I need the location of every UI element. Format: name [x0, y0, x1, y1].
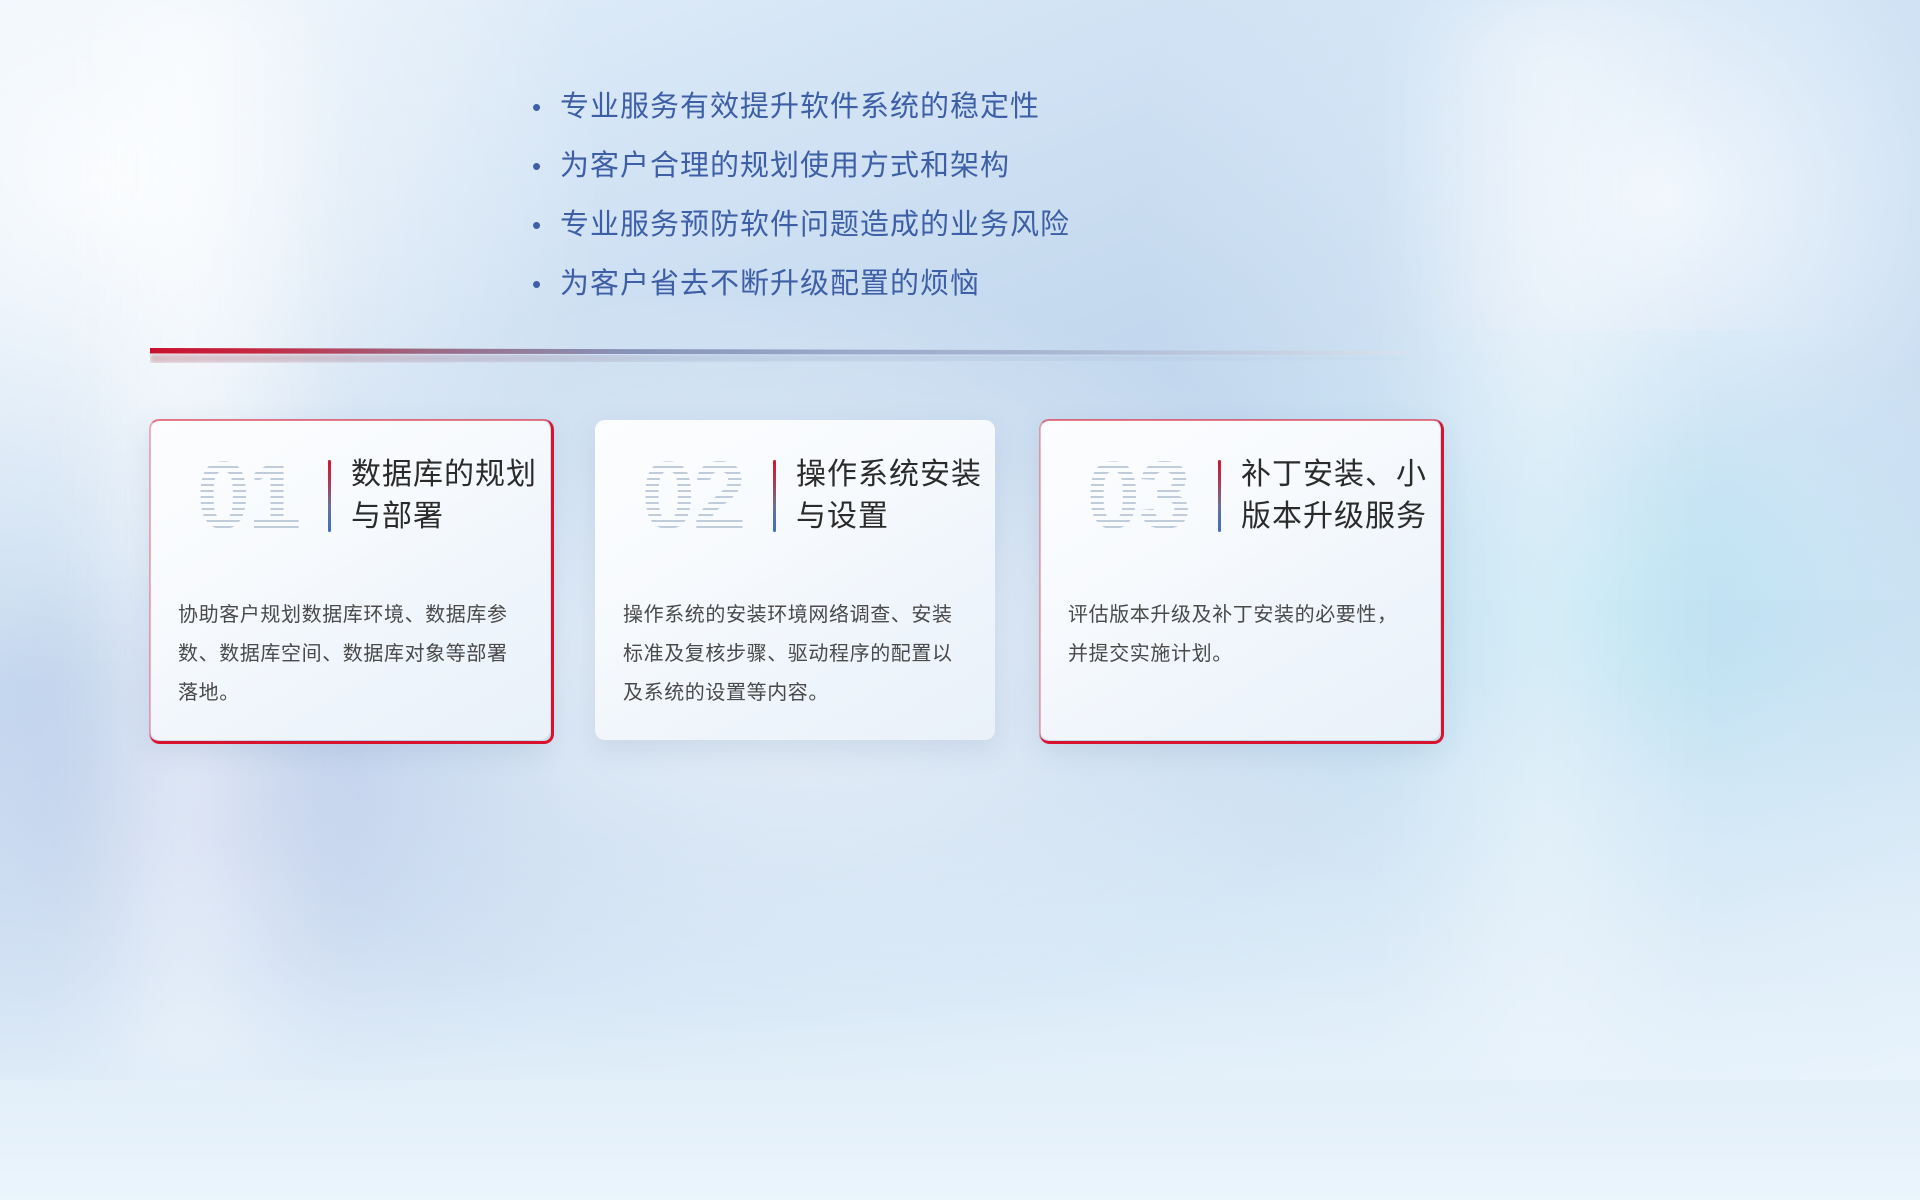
background-bottom-fade	[0, 680, 1920, 1200]
benefits-bullet-list: • 专业服务有效提升软件系统的稳定性 • 为客户合理的规划使用方式和架构 • 专…	[532, 88, 1432, 325]
service-card-01[interactable]: 01 数据库的规划 与部署 协助客户规划数据库环境、数据库参数、数据库空间、数据…	[150, 420, 550, 740]
bullet-text: 专业服务有效提升软件系统的稳定性	[560, 88, 1040, 127]
divider-shadow	[150, 354, 1406, 363]
bullet-dot-icon: •	[532, 212, 560, 238]
bullet-dot-icon: •	[532, 94, 560, 120]
service-card-row: 01 数据库的规划 与部署 协助客户规划数据库环境、数据库参数、数据库空间、数据…	[150, 420, 1440, 740]
service-card-03[interactable]: 03 补丁安装、小 版本升级服务 评估版本升级及补丁安装的必要性，并提交实施计划…	[1040, 420, 1440, 740]
card-accent-divider	[1218, 460, 1221, 532]
card-accent-divider	[328, 460, 331, 532]
card-number-03: 03	[1062, 448, 1214, 544]
divider-gradient-bar	[150, 348, 1406, 355]
card-number-02: 02	[617, 448, 769, 544]
card-title: 操作系统安装 与设置	[796, 454, 982, 538]
list-item: • 为客户合理的规划使用方式和架构	[532, 147, 1432, 186]
card-header: 03 补丁安装、小 版本升级服务	[1040, 420, 1440, 572]
bullet-text: 为客户合理的规划使用方式和架构	[560, 147, 1010, 186]
card-accent-divider	[773, 460, 776, 532]
list-item: • 专业服务有效提升软件系统的稳定性	[532, 88, 1432, 127]
section-divider	[150, 345, 1406, 363]
bullet-dot-icon: •	[532, 271, 560, 297]
bullet-text: 专业服务预防软件问题造成的业务风险	[560, 206, 1070, 245]
card-description: 评估版本升级及补丁安装的必要性，并提交实施计划。	[1040, 572, 1440, 674]
bullet-text: 为客户省去不断升级配置的烦恼	[560, 265, 980, 304]
card-title: 补丁安装、小 版本升级服务	[1241, 454, 1427, 538]
list-item: • 专业服务预防软件问题造成的业务风险	[532, 206, 1432, 245]
card-description: 协助客户规划数据库环境、数据库参数、数据库空间、数据库对象等部署落地。	[150, 572, 550, 713]
card-header: 02 操作系统安装 与设置	[595, 420, 995, 572]
card-title: 数据库的规划 与部署	[351, 454, 537, 538]
card-description: 操作系统的安装环境网络调查、安装标准及复核步骤、驱动程序的配置以及系统的设置等内…	[595, 572, 995, 713]
bullet-dot-icon: •	[532, 153, 560, 179]
list-item: • 为客户省去不断升级配置的烦恼	[532, 265, 1432, 304]
service-card-02[interactable]: 02 操作系统安装 与设置 操作系统的安装环境网络调查、安装标准及复核步骤、驱动…	[595, 420, 995, 740]
card-number-01: 01	[172, 448, 324, 544]
card-header: 01 数据库的规划 与部署	[150, 420, 550, 572]
